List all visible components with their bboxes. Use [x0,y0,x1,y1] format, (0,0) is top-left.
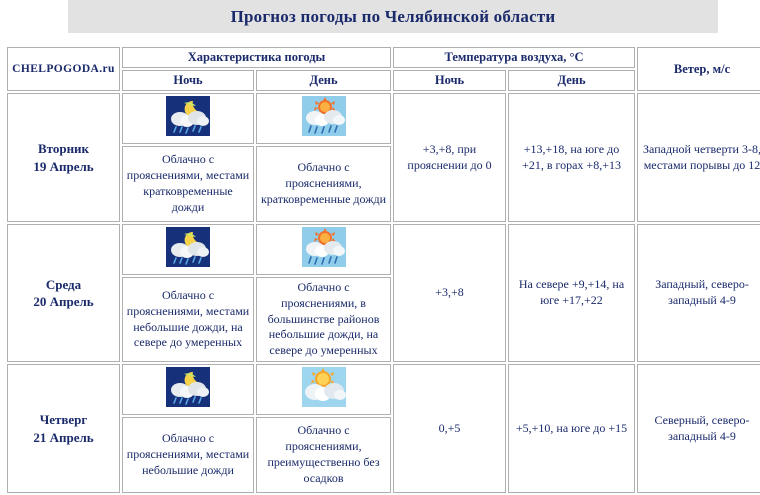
header-weather-day: День [256,70,391,91]
header-weather-night: Ночь [122,70,254,91]
header-wind: Ветер, м/с [637,47,760,91]
night-icon-cell [122,364,254,415]
row-day-name: Вторник [11,140,116,158]
day-description-cell: Облачно с прояснениями, кратковременные … [256,146,391,222]
day-icon-cell [256,224,391,275]
header-temp-night: Ночь [393,70,506,91]
row-day-date: 20 Апрель [11,293,116,311]
row-day-date: 19 Апрель [11,158,116,176]
night-icon-cell [122,93,254,144]
table-header-row-groups: CHELPOGODA.ru Характеристика погоды Темп… [7,47,760,68]
temp-day-cell: +5,+10, на юге до +15 [508,364,635,493]
sun-clouds-rain-icon [302,96,346,136]
wind-cell: Северный, северо-западный 4-9 [637,364,760,493]
row-day-label: Вторник 19 Апрель [7,93,120,222]
night-description-cell: Облачно с прояснениями, местами кратковр… [122,146,254,222]
row-day-label: Четверг 21 Апрель [7,364,120,493]
page-title: Прогноз погоды по Челябинской области [231,7,556,27]
wind-cell: Западной четверти 3-8, местами порывы до… [637,93,760,222]
day-description-cell: Облачно с прояснениями, в большинстве ра… [256,277,391,362]
table-row: Четверг 21 Апрель [7,364,760,415]
table-row: Среда 20 Апрель [7,224,760,275]
moon-clouds-rain-icon [166,227,210,267]
temp-night-cell: +3,+8, при прояснении до 0 [393,93,506,222]
night-icon-cell [122,224,254,275]
row-day-name: Среда [11,276,116,294]
forecast-rows: Вторник 19 Апрель [7,93,760,493]
temp-day-cell: +13,+18, на юге до +21, в горах +8,+13 [508,93,635,222]
temp-day-cell: На севере +9,+14, на юге +17,+22 [508,224,635,362]
header-temp-day: День [508,70,635,91]
row-day-name: Четверг [11,411,116,429]
sun-clouds-rain-icon [302,227,346,267]
moon-clouds-rain-icon [166,367,210,407]
row-day-date: 21 Апрель [11,429,116,447]
night-description-cell: Облачно с прояснениями, местами небольши… [122,277,254,362]
page-title-bar: Прогноз погоды по Челябинской области [68,0,718,33]
wind-cell: Западный, северо-западный 4-9 [637,224,760,362]
temp-night-cell: 0,+5 [393,364,506,493]
row-day-label: Среда 20 Апрель [7,224,120,362]
brand-logo-cell: CHELPOGODA.ru [7,47,120,91]
day-icon-cell [256,93,391,144]
night-description-cell: Облачно с прояснениями, местами небольши… [122,417,254,493]
header-temperature-group: Температура воздуха, °C [393,47,635,68]
table-row: Вторник 19 Апрель [7,93,760,144]
moon-clouds-rain-icon [166,96,210,136]
weather-forecast-table: CHELPOGODA.ru Характеристика погоды Темп… [5,45,760,495]
day-description-cell: Облачно с прояснениями, преимущественно … [256,417,391,493]
sun-clouds-icon [302,367,346,407]
temp-night-cell: +3,+8 [393,224,506,362]
header-weather-group: Характеристика погоды [122,47,391,68]
day-icon-cell [256,364,391,415]
